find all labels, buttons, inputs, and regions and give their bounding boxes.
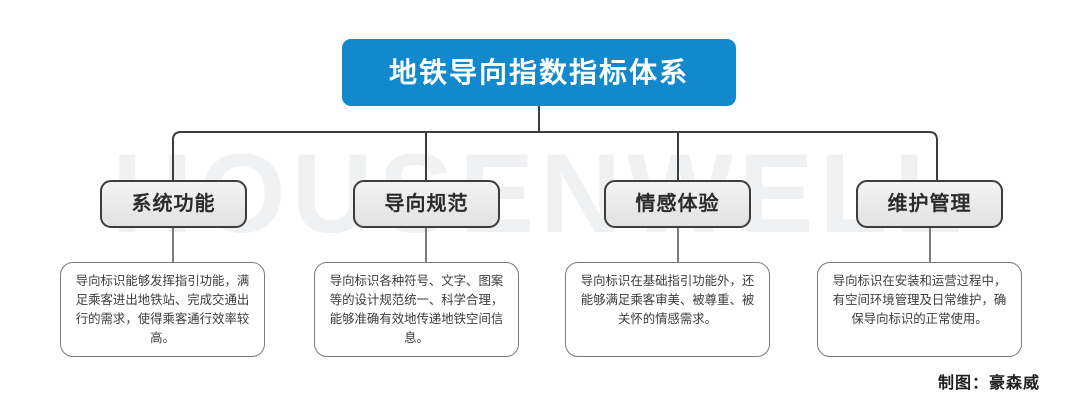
description-node-3: 导向标识在基础指引功能外，还能够满足乘客审美、被尊重、被关怀的情感需求。 xyxy=(565,262,770,357)
root-node[interactable]: 地铁导向指数指标体系 xyxy=(342,39,736,106)
description-node-2: 导向标识各种符号、文字、图案等的设计规范统一、科学合理，能够准确有效地传递地铁空… xyxy=(314,262,519,357)
category-node-1-label: 系统功能 xyxy=(132,194,216,214)
category-node-3[interactable]: 情感体验 xyxy=(604,180,751,228)
category-node-4-label: 维护管理 xyxy=(888,194,972,214)
description-node-1: 导向标识能够发挥指引功能，满足乘客进出地铁站、完成交通出行的需求，使得乘客通行效… xyxy=(60,262,265,357)
root-node-label: 地铁导向指数指标体系 xyxy=(389,59,689,87)
description-node-4-text: 导向标识在安装和运营过程中，有空间环境管理及日常维护，确保导向标识的正常使用。 xyxy=(828,272,1011,329)
category-node-2-label: 导向规范 xyxy=(385,194,469,214)
category-node-1[interactable]: 系统功能 xyxy=(100,180,247,228)
credit-label: 制图：豪森威 xyxy=(938,369,1040,393)
description-node-1-text: 导向标识能够发挥指引功能，满足乘客进出地铁站、完成交通出行的需求，使得乘客通行效… xyxy=(71,272,254,348)
category-node-4[interactable]: 维护管理 xyxy=(856,180,1003,228)
category-node-2[interactable]: 导向规范 xyxy=(353,180,500,228)
diagram-canvas: HOUSENWELL 地铁导向指数指标体系 系统功能 导向规范 情感体验 维护管… xyxy=(0,0,1080,409)
category-node-3-label: 情感体验 xyxy=(636,194,720,214)
description-node-3-text: 导向标识在基础指引功能外，还能够满足乘客审美、被尊重、被关怀的情感需求。 xyxy=(576,272,759,329)
description-node-2-text: 导向标识各种符号、文字、图案等的设计规范统一、科学合理，能够准确有效地传递地铁空… xyxy=(325,272,508,348)
description-node-4: 导向标识在安装和运营过程中，有空间环境管理及日常维护，确保导向标识的正常使用。 xyxy=(817,262,1022,357)
